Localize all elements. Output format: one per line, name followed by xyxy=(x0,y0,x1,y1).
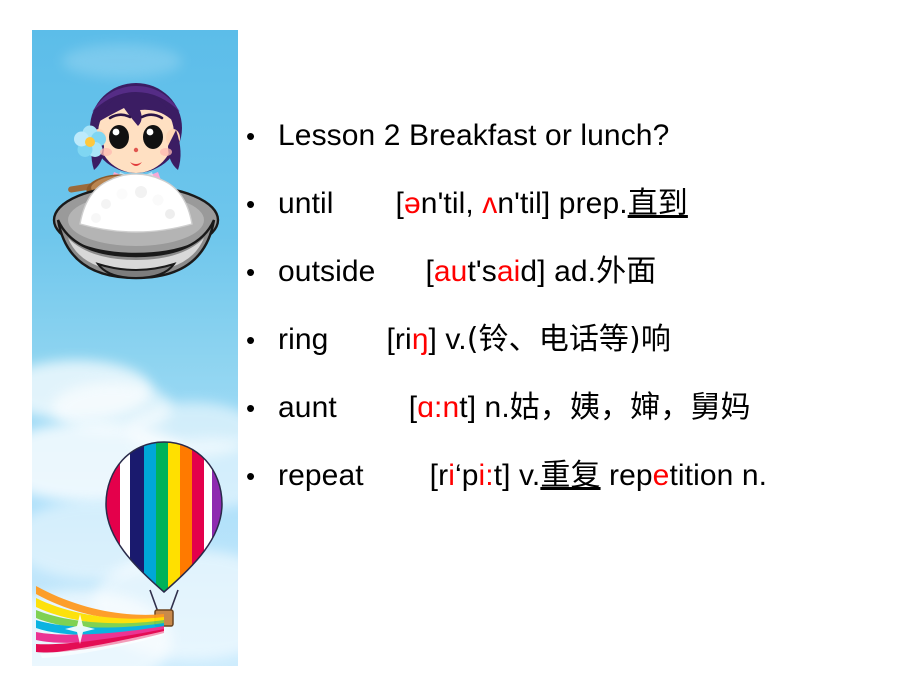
phonetic-part: t xyxy=(459,391,467,424)
derived-word-part: rep xyxy=(601,459,653,492)
bullet-dot-icon: • xyxy=(246,238,268,306)
vocab-entry-ring: ring[riŋ] v.(铃、电话等)响 xyxy=(278,306,671,374)
phonetic-open: [ xyxy=(396,187,404,220)
vocab-word: aunt xyxy=(278,374,337,442)
vocab-entry-aunt: aunt[ɑ:nt] n.姑，姨，婶，舅妈 xyxy=(278,374,751,442)
bullet-dot-icon: • xyxy=(246,306,268,374)
bullet-dot-icon: • xyxy=(246,374,268,442)
phonetic-close: ] xyxy=(468,391,476,424)
phonetic-part: n'til, xyxy=(421,187,482,220)
phonetic-close: ] xyxy=(502,459,510,492)
phonetic-part-red: ŋ xyxy=(412,323,429,356)
vocab-entry-until: until[ən'til, ʌn'til] prep.直到 xyxy=(278,170,688,238)
part-of-speech: v. xyxy=(511,459,541,492)
sky-photo-panel xyxy=(32,30,238,666)
phonetic-part: n'til xyxy=(497,187,542,220)
girl-with-rice-bowl-image xyxy=(46,68,226,300)
lesson-title-text: Lesson 2 Breakfast or lunch? xyxy=(278,102,669,170)
vocab-word: until xyxy=(278,170,334,238)
phonetic-part: ri xyxy=(395,323,412,356)
phonetic-part: r xyxy=(438,459,448,492)
list-item: • Lesson 2 Breakfast or lunch? xyxy=(246,102,906,170)
part-of-speech: ad. xyxy=(546,255,596,288)
phonetic-open: [ xyxy=(409,391,417,424)
meaning-text: 重复 xyxy=(540,458,600,493)
phonetic-part: t xyxy=(494,459,502,492)
meaning-text: 直到 xyxy=(628,186,688,221)
phonetic-open: [ xyxy=(430,459,438,492)
phonetic-part-red: ai xyxy=(497,255,521,288)
vocab-entry-repeat: repeat[ri‘pi:t] v.重复 repetition n. xyxy=(278,442,767,510)
rainbow-hot-air-balloon-image xyxy=(36,418,236,662)
phonetic-part-red: ʌ xyxy=(482,187,497,220)
phonetic-part: t's xyxy=(467,255,496,288)
meaning-text: (铃、电话等)响 xyxy=(467,322,671,357)
phonetic-part-red: ɑ:n xyxy=(417,391,459,424)
phonetic-part: d xyxy=(520,255,537,288)
list-item: • until[ən'til, ʌn'til] prep.直到 xyxy=(246,170,906,238)
phonetic-open: [ xyxy=(386,323,394,356)
phonetic-close: ] xyxy=(429,323,437,356)
vocab-word: outside xyxy=(278,238,375,306)
meaning-text: 姑，姨，婶，舅妈 xyxy=(510,390,751,425)
phonetic-part-red: ə xyxy=(404,187,421,220)
bullet-dot-icon: • xyxy=(246,442,268,510)
part-of-speech: n. xyxy=(476,391,510,424)
phonetic-part: ‘p xyxy=(455,459,479,492)
bullet-dot-icon: • xyxy=(246,170,268,238)
bullet-dot-icon: • xyxy=(246,102,268,170)
phonetic-open: [ xyxy=(425,255,433,288)
vocab-word: repeat xyxy=(278,442,364,510)
phonetic-part-red: i: xyxy=(479,459,494,492)
list-item: • aunt[ɑ:nt] n.姑，姨，婶，舅妈 xyxy=(246,374,906,442)
list-item: • ring[riŋ] v.(铃、电话等)响 xyxy=(246,306,906,374)
slide-canvas: • Lesson 2 Breakfast or lunch? • until[ə… xyxy=(0,0,920,690)
phonetic-part-red: au xyxy=(434,255,468,288)
bullet-list: • Lesson 2 Breakfast or lunch? • until[ə… xyxy=(246,102,906,510)
derived-word-part: tition n. xyxy=(669,459,767,492)
list-item: • repeat[ri‘pi:t] v.重复 repetition n. xyxy=(246,442,906,510)
list-item: • outside[aut'said] ad.外面 xyxy=(246,238,906,306)
phonetic-part-red: i xyxy=(448,459,455,492)
phonetic-close: ] xyxy=(537,255,545,288)
vocab-word: ring xyxy=(278,306,328,374)
part-of-speech: v. xyxy=(437,323,467,356)
meaning-text: 外面 xyxy=(596,254,656,289)
derived-word-part-red: e xyxy=(653,459,670,492)
vocab-entry-outside: outside[aut'said] ad.外面 xyxy=(278,238,656,306)
part-of-speech: prep. xyxy=(550,187,627,220)
